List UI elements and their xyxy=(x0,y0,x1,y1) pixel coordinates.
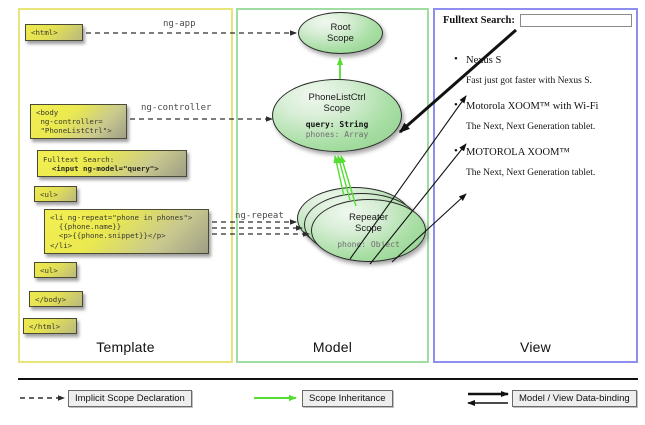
scope-root-title-2: Scope xyxy=(327,33,354,44)
code-box-html-open: <html> xyxy=(25,24,83,41)
phone-snippet: Fast just got faster with Nexus S. xyxy=(452,74,634,88)
code-search-label: Fulltext Search: xyxy=(43,155,114,164)
view-search-row: Fulltext Search: xyxy=(438,14,634,27)
panel-template-label: Template xyxy=(20,339,231,355)
phone-snippet: The Next, Next Generation tablet. xyxy=(452,120,634,134)
view-phone-list: Nexus S Fast just got faster with Nexus … xyxy=(438,53,634,180)
legend-item-databinding: Model / View Data-binding xyxy=(512,390,637,407)
scope-root-title-1: Root xyxy=(330,22,350,33)
view-rendered-output: Fulltext Search: Nexus S Fast just got f… xyxy=(438,14,634,324)
code-box-li-repeat: <li ng-repeat="phone in phones"> {{phone… xyxy=(44,209,209,254)
scope-phonelistctrl: PhoneListCtrl Scope query: String phones… xyxy=(272,79,402,152)
scope-ctrl-member-phones: phones: Array xyxy=(306,130,369,140)
edge-label-ng-controller: ng-controller xyxy=(141,103,211,113)
edge-label-ng-repeat: ng-repeat xyxy=(235,211,284,221)
phone-name: MOTOROLA XOOM™ xyxy=(452,145,634,160)
legend-item-implicit: Implicit Scope Declaration xyxy=(68,390,192,407)
legend-rule xyxy=(18,378,638,380)
legend-item-inheritance: Scope Inheritance xyxy=(302,390,393,407)
legend-label-inheritance: Scope Inheritance xyxy=(302,390,393,407)
edge-label-ng-app: ng-app xyxy=(163,19,196,29)
scope-repeater: Repeater Scope phone: Object xyxy=(311,199,426,262)
scope-repeater-member-phone: phone: Object xyxy=(337,240,400,250)
code-box-ul-open: <ul> xyxy=(34,186,77,202)
code-box-body-close: </body> xyxy=(29,291,83,307)
phone-name: Nexus S xyxy=(452,53,634,68)
list-item[interactable]: Nexus S Fast just got faster with Nexus … xyxy=(452,53,634,88)
code-box-search: Fulltext Search: <input ng-model="query"… xyxy=(37,150,187,177)
scope-repeater-title-1: Repeater xyxy=(349,212,388,223)
legend: Implicit Scope Declaration Scope Inherit… xyxy=(18,378,638,418)
panel-model-label: Model xyxy=(238,339,427,355)
view-search-label: Fulltext Search: xyxy=(443,15,515,26)
phone-name: Motorola XOOM™ with Wi-Fi xyxy=(452,99,634,114)
panel-model: Model xyxy=(236,8,429,363)
code-box-html-close: </html> xyxy=(23,318,77,334)
list-item[interactable]: Motorola XOOM™ with Wi-Fi The Next, Next… xyxy=(452,99,634,134)
scope-ctrl-title-1: PhoneListCtrl xyxy=(308,92,365,103)
view-search-input[interactable] xyxy=(520,14,632,27)
scope-ctrl-member-query: query: String xyxy=(306,120,369,130)
scope-root: Root Scope xyxy=(298,12,383,54)
legend-label-implicit: Implicit Scope Declaration xyxy=(68,390,192,407)
scope-ctrl-title-2: Scope xyxy=(324,103,351,114)
scope-repeater-title-2: Scope xyxy=(355,223,382,234)
phone-snippet: The Next, Next Generation tablet. xyxy=(452,166,634,180)
list-item[interactable]: MOTOROLA XOOM™ The Next, Next Generation… xyxy=(452,145,634,180)
panel-view-label: View xyxy=(435,339,636,355)
legend-label-databinding: Model / View Data-binding xyxy=(512,390,637,407)
code-box-body-open: <body ng-controller= "PhoneListCtrl"> xyxy=(30,104,127,139)
code-box-ul-close: <ul> xyxy=(34,262,77,278)
code-search-input-line: <input ng-model="query"> xyxy=(43,164,159,173)
diagram-canvas: Template Model View <html> <body ng-cont… xyxy=(0,0,645,425)
